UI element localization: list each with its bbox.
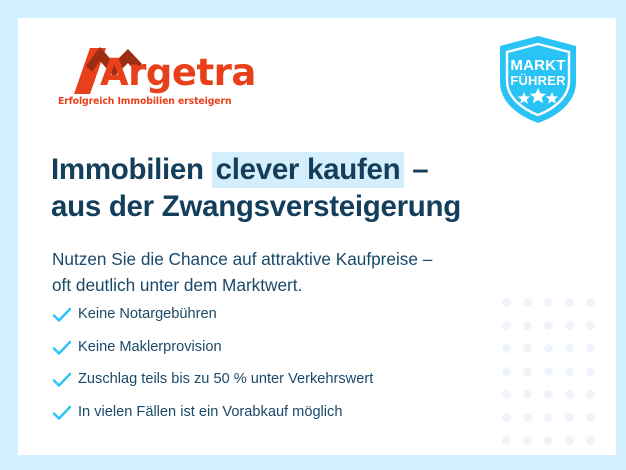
benefit-list: Keine Notargebühren Keine Maklerprovisio…: [52, 301, 522, 431]
dot: [586, 367, 595, 376]
dot: [565, 413, 574, 422]
dot: [565, 344, 574, 353]
check-icon: [52, 403, 78, 423]
dot: [523, 436, 532, 445]
page-title: Immobilien clever kaufen – aus der Zwang…: [51, 151, 571, 225]
dot: [544, 413, 553, 422]
list-item: Keine Notargebühren: [52, 301, 522, 329]
logo-wordmark: Argetra: [100, 54, 256, 91]
dot-grid-decoration: [502, 298, 616, 455]
dot: [544, 298, 553, 307]
list-item-label: Keine Notargebühren: [78, 306, 217, 324]
dot: [586, 390, 595, 399]
dot: [565, 436, 574, 445]
dot: [502, 367, 511, 376]
headline-text-before: Immobilien: [51, 153, 212, 186]
subheadline-line-1: Nutzen Sie die Chance auf attraktive Kau…: [52, 246, 552, 272]
page-frame: Argetra Erfolgreich Immobilien ersteiger…: [0, 0, 626, 470]
dot: [565, 390, 574, 399]
dot: [586, 436, 595, 445]
dot: [586, 413, 595, 422]
headline-line-1: Immobilien clever kaufen –: [51, 151, 571, 188]
list-item: In vielen Fällen ist ein Vorabkauf mögli…: [52, 399, 522, 427]
dot: [565, 321, 574, 330]
dot: [502, 321, 511, 330]
logo-tagline: Erfolgreich Immobilien ersteigern: [58, 96, 231, 107]
list-item-label: In vielen Fällen ist ein Vorabkauf mögli…: [78, 404, 342, 422]
dot: [523, 390, 532, 399]
check-icon: [52, 338, 78, 358]
headline-highlight: clever kaufen: [212, 152, 405, 188]
dot: [544, 436, 553, 445]
dot: [502, 436, 511, 445]
list-item-label: Zuschlag teils bis zu 50 % unter Verkehr…: [78, 371, 373, 389]
dot: [586, 344, 595, 353]
dot: [565, 367, 574, 376]
list-item: Zuschlag teils bis zu 50 % unter Verkehr…: [52, 366, 522, 394]
dot: [544, 344, 553, 353]
dot: [523, 413, 532, 422]
dot: [502, 344, 511, 353]
dot: [523, 298, 532, 307]
check-icon: [52, 370, 78, 390]
dot: [586, 298, 595, 307]
dot: [523, 367, 532, 376]
argetra-logo[interactable]: Argetra Erfolgreich Immobilien ersteiger…: [56, 44, 256, 124]
list-item: Keine Maklerprovision: [52, 334, 522, 362]
dot: [586, 321, 595, 330]
shield-badge-icon: [496, 34, 580, 126]
dot: [502, 390, 511, 399]
marktfuehrer-badge: MARKT FÜHRER: [496, 34, 580, 126]
dot: [523, 321, 532, 330]
headline-text-after: –: [404, 153, 428, 186]
dot: [544, 321, 553, 330]
subheadline-line-2: oft deutlich unter dem Marktwert.: [52, 272, 552, 298]
headline-line-2: aus der Zwangsversteigerung: [51, 188, 571, 225]
promo-card: Argetra Erfolgreich Immobilien ersteiger…: [18, 18, 616, 455]
dot: [544, 367, 553, 376]
dot: [565, 298, 574, 307]
dot: [502, 298, 511, 307]
subheadline: Nutzen Sie die Chance auf attraktive Kau…: [52, 246, 552, 298]
list-item-label: Keine Maklerprovision: [78, 339, 222, 357]
dot: [502, 413, 511, 422]
dot: [523, 344, 532, 353]
dot: [544, 390, 553, 399]
check-icon: [52, 305, 78, 325]
